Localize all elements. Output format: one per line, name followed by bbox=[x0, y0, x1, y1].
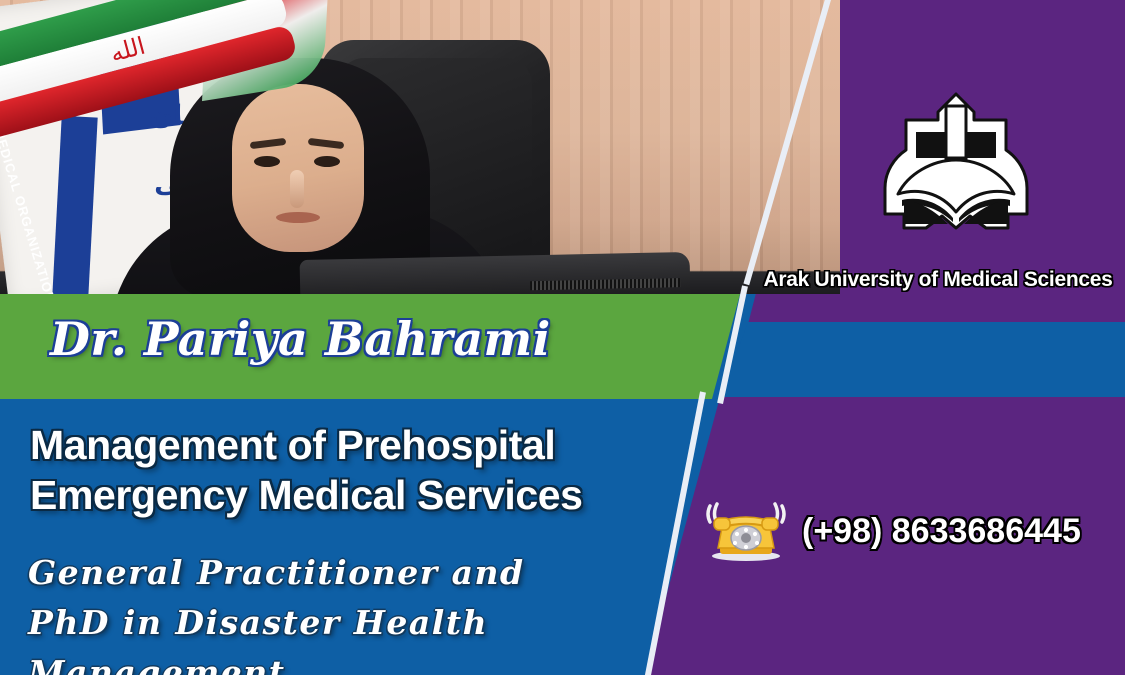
nose bbox=[290, 170, 304, 208]
credentials-line-1: General Practitioner and bbox=[28, 548, 668, 598]
person-face bbox=[232, 84, 364, 252]
job-title-line-2: Emergency Medical Services bbox=[30, 470, 630, 520]
university-name: Arak University of Medical Sciences bbox=[760, 268, 1116, 292]
arak-university-logo-icon bbox=[882, 88, 1030, 238]
eyebrow-left bbox=[250, 138, 287, 149]
job-title: Management of Prehospital Emergency Medi… bbox=[30, 420, 630, 520]
eye-right bbox=[314, 156, 340, 167]
job-title-line-1: Management of Prehospital bbox=[30, 420, 630, 470]
credentials-line-2: PhD in Disaster Health Management bbox=[28, 598, 668, 675]
eye-left bbox=[254, 156, 280, 167]
mouth bbox=[276, 212, 320, 223]
phone-number[interactable]: (+98) 8633686445 bbox=[802, 512, 1081, 551]
computer-monitor bbox=[300, 252, 691, 294]
ringing-telephone-icon bbox=[700, 500, 792, 562]
phone-row[interactable]: (+98) 8633686445 bbox=[700, 500, 1081, 562]
portrait-photo: سازمان نظام پزشکی MEDICAL ORGANIZATION bbox=[0, 0, 840, 294]
credentials: General Practitioner and PhD in Disaster… bbox=[28, 548, 668, 675]
business-card: سازمان نظام پزشکی MEDICAL ORGANIZATION bbox=[0, 0, 1125, 675]
iran-emblem-icon: الله bbox=[108, 34, 142, 66]
eyebrow-right bbox=[308, 138, 345, 149]
person-name: Dr. Pariya Bahrami bbox=[50, 312, 551, 366]
